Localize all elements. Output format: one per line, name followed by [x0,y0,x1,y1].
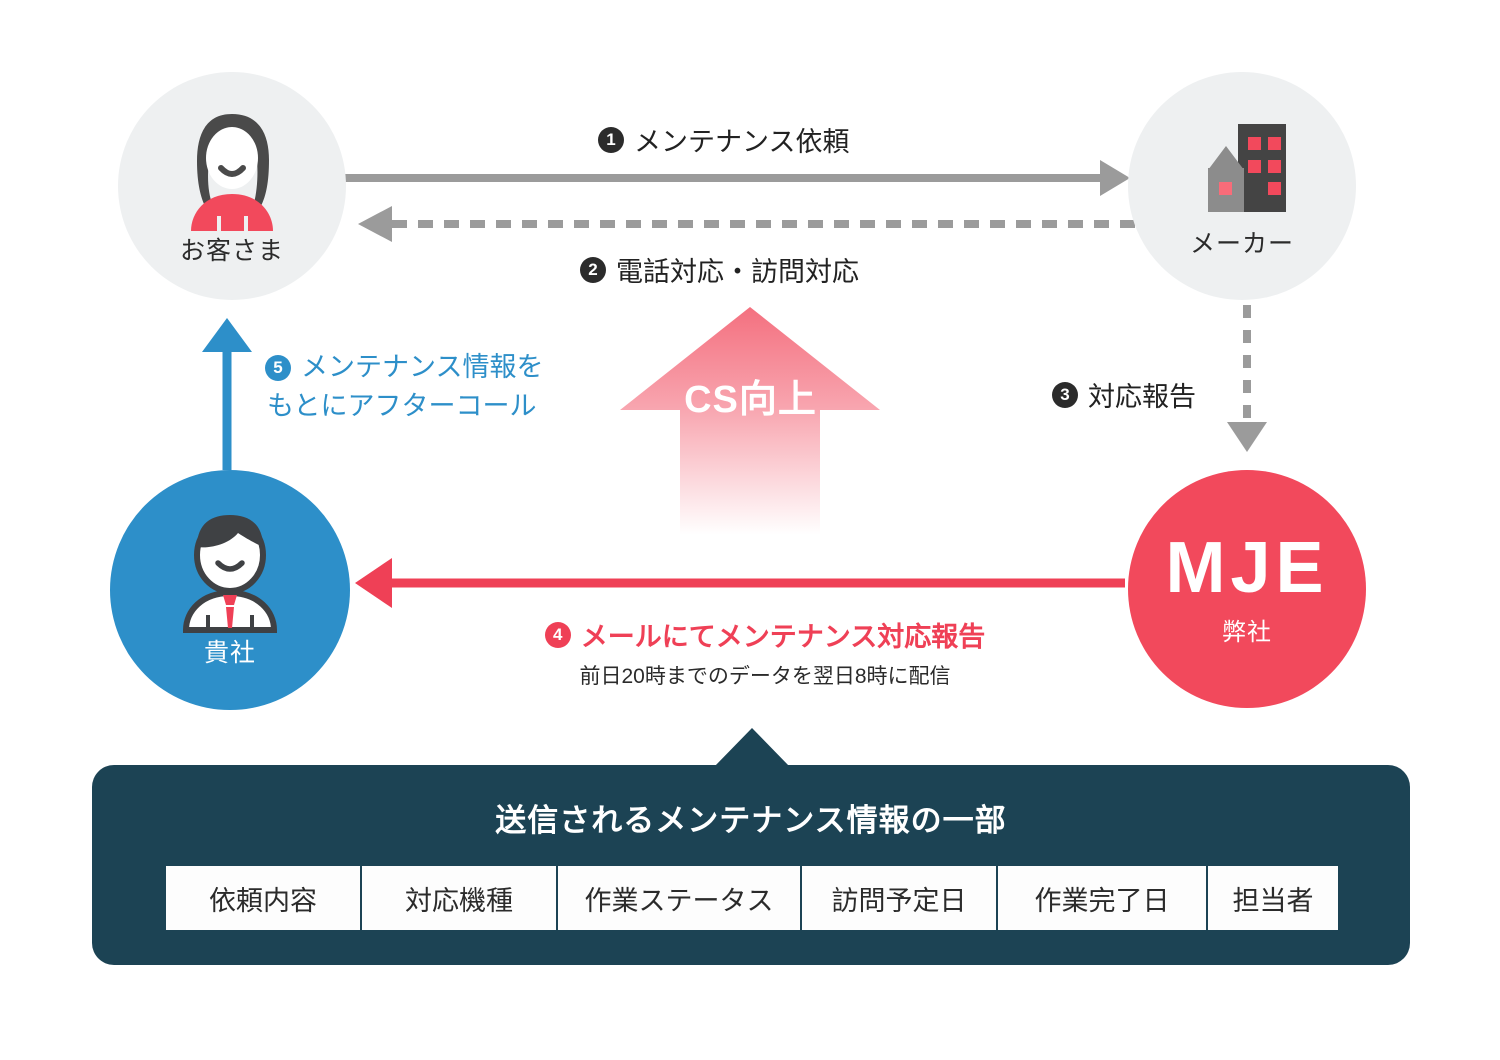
flow-label-1: 1 メンテナンス依頼 [598,120,849,159]
mje-label: 弊社 [1222,612,1272,647]
flow-arrow-1 [345,160,1130,196]
flow-label-2: 2 電話対応・訪問対応 [580,250,859,289]
panel-cell: 作業完了日 [998,866,1208,930]
diagram-canvas: お客さま メーカー 貴社 MJE [0,0,1500,1060]
mje-title: MJE [1165,532,1328,604]
node-your-company-label: 貴社 [204,633,256,669]
female-customer-icon [177,106,287,231]
step-badge-5: 5 [265,355,291,381]
node-maker[interactable]: メーカー [1128,72,1356,300]
node-customer[interactable]: お客さま [118,72,346,300]
step-badge-3: 3 [1052,382,1078,408]
cs-improvement-label: CS向上 [618,368,883,423]
flow-arrow-3 [1227,305,1267,452]
flow-label-4-text: メールにてメンテナンス対応報告 [581,615,985,654]
factory-building-icon [1186,112,1298,224]
panel-cell: 訪問予定日 [802,866,998,930]
panel-cell: 依頼内容 [166,866,362,930]
panel-cell: 担当者 [1208,866,1338,930]
panel-pointer-triangle [714,728,790,767]
flow-arrow-5 [202,318,252,470]
panel-cell: 作業ステータス [558,866,802,930]
node-maker-label: メーカー [1190,224,1294,260]
flow-arrow-4 [355,558,1125,608]
panel-cell: 対応機種 [362,866,558,930]
flow-label-4-note: 前日20時までのデータを翌日8時に配信 [505,660,1025,690]
businessman-icon [174,511,286,633]
flow-label-5: 5 メンテナンス情報を もとにアフターコール [265,348,645,426]
step-badge-1: 1 [598,127,624,153]
panel-title: 送信されるメンテナンス情報の一部 [92,795,1410,840]
maintenance-info-panel: 送信されるメンテナンス情報の一部 依頼内容対応機種作業ステータス訪問予定日作業完… [92,765,1410,965]
flow-label-5-line1: メンテナンス情報を [301,348,543,387]
flow-label-1-text: メンテナンス依頼 [634,120,849,159]
node-mje[interactable]: MJE 弊社 [1128,470,1366,708]
panel-cell-list: 依頼内容対応機種作業ステータス訪問予定日作業完了日担当者 [166,866,1338,930]
flow-label-2-text: 電話対応・訪問対応 [616,250,859,289]
flow-label-3: 3 対応報告 [1052,375,1196,414]
node-your-company[interactable]: 貴社 [110,470,350,710]
flow-label-3-text: 対応報告 [1088,375,1196,414]
flow-label-4: 4 メールにてメンテナンス対応報告 前日20時までのデータを翌日8時に配信 [505,615,1025,690]
step-badge-4: 4 [545,622,571,648]
flow-label-5-line2: もとにアフターコール [267,387,536,426]
step-badge-2: 2 [580,257,606,283]
node-customer-label: お客さま [180,231,284,267]
flow-arrow-2 [358,206,1135,242]
